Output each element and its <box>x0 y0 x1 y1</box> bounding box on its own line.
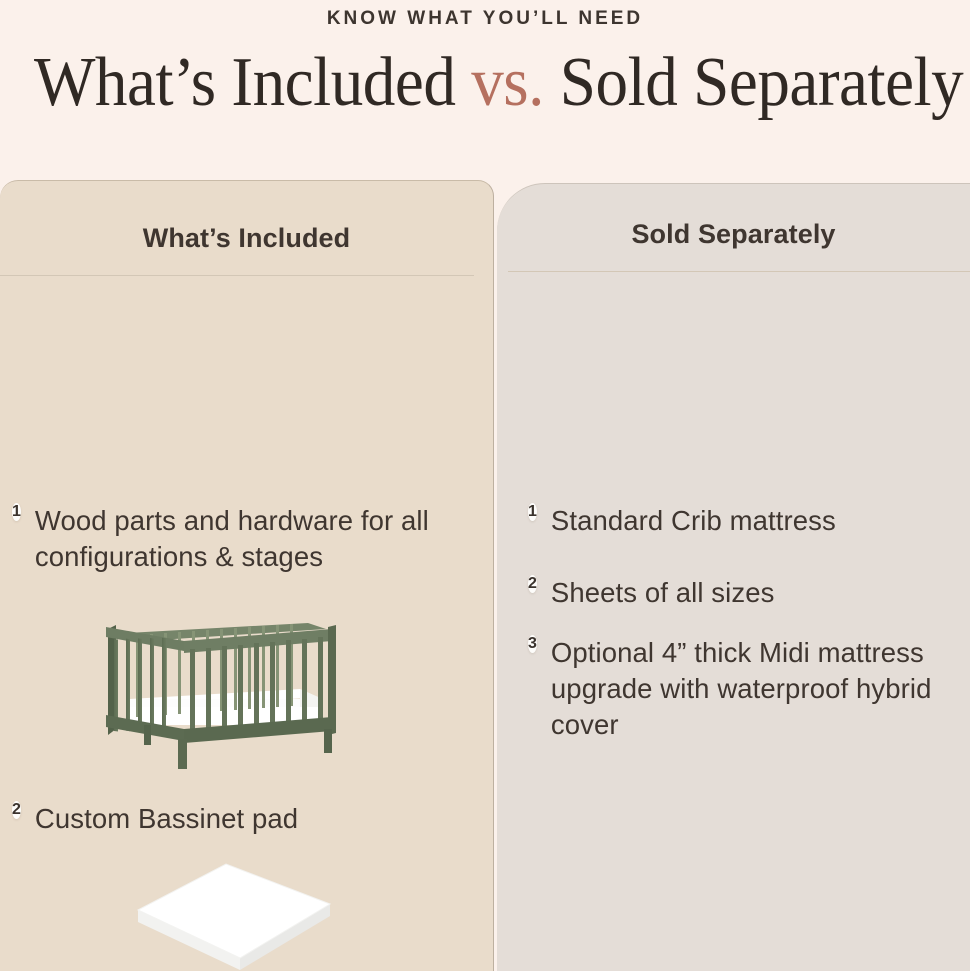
item-number-badge: 2 <box>12 801 21 819</box>
list-item-label: Wood parts and hardware for all configur… <box>35 503 482 575</box>
page-title: What’s Included vs. Sold Separately <box>34 48 936 118</box>
crib-icon <box>100 611 340 771</box>
item-number-badge: 3 <box>528 635 537 653</box>
left-panel-divider <box>0 275 474 276</box>
right-panel-title: Sold Separately <box>497 184 970 250</box>
list-item[interactable]: 1 Wood parts and hardware for all config… <box>12 503 482 575</box>
item-number-badge: 1 <box>12 503 21 521</box>
list-item-label: Sheets of all sizes <box>551 575 775 611</box>
list-item[interactable]: 3 Optional 4” thick Midi mattress upgrad… <box>528 635 958 742</box>
list-item[interactable]: 2 Custom Bassinet pad <box>12 801 482 837</box>
comparison-infographic: KNOW WHAT YOU’LL NEED What’s Included vs… <box>0 0 970 971</box>
crib-illustration <box>100 611 340 771</box>
header-kicker: KNOW WHAT YOU’LL NEED <box>0 8 970 30</box>
item-number-badge: 2 <box>528 575 537 593</box>
mattress-pad-icon <box>130 848 340 971</box>
bassinet-pad-illustration <box>130 848 340 971</box>
list-item[interactable]: 1 Standard Crib mattress <box>528 503 958 539</box>
left-panel-title: What’s Included <box>0 181 493 254</box>
headline-part-1: What’s Included <box>34 44 471 121</box>
right-panel-divider <box>508 271 970 272</box>
item-number-badge: 1 <box>528 503 537 521</box>
panels-container: What’s Included Sold Separately 1 Wood p… <box>0 180 970 971</box>
list-item-label: Standard Crib mattress <box>551 503 836 539</box>
headline-part-2: Sold Separately <box>544 44 963 121</box>
header: KNOW WHAT YOU’LL NEED What’s Included vs… <box>0 0 970 180</box>
list-item-label: Custom Bassinet pad <box>35 801 298 837</box>
headline-vs: vs. <box>471 44 544 121</box>
list-item[interactable]: 2 Sheets of all sizes <box>528 575 958 611</box>
list-item-label: Optional 4” thick Midi mattress upgrade … <box>551 635 958 742</box>
